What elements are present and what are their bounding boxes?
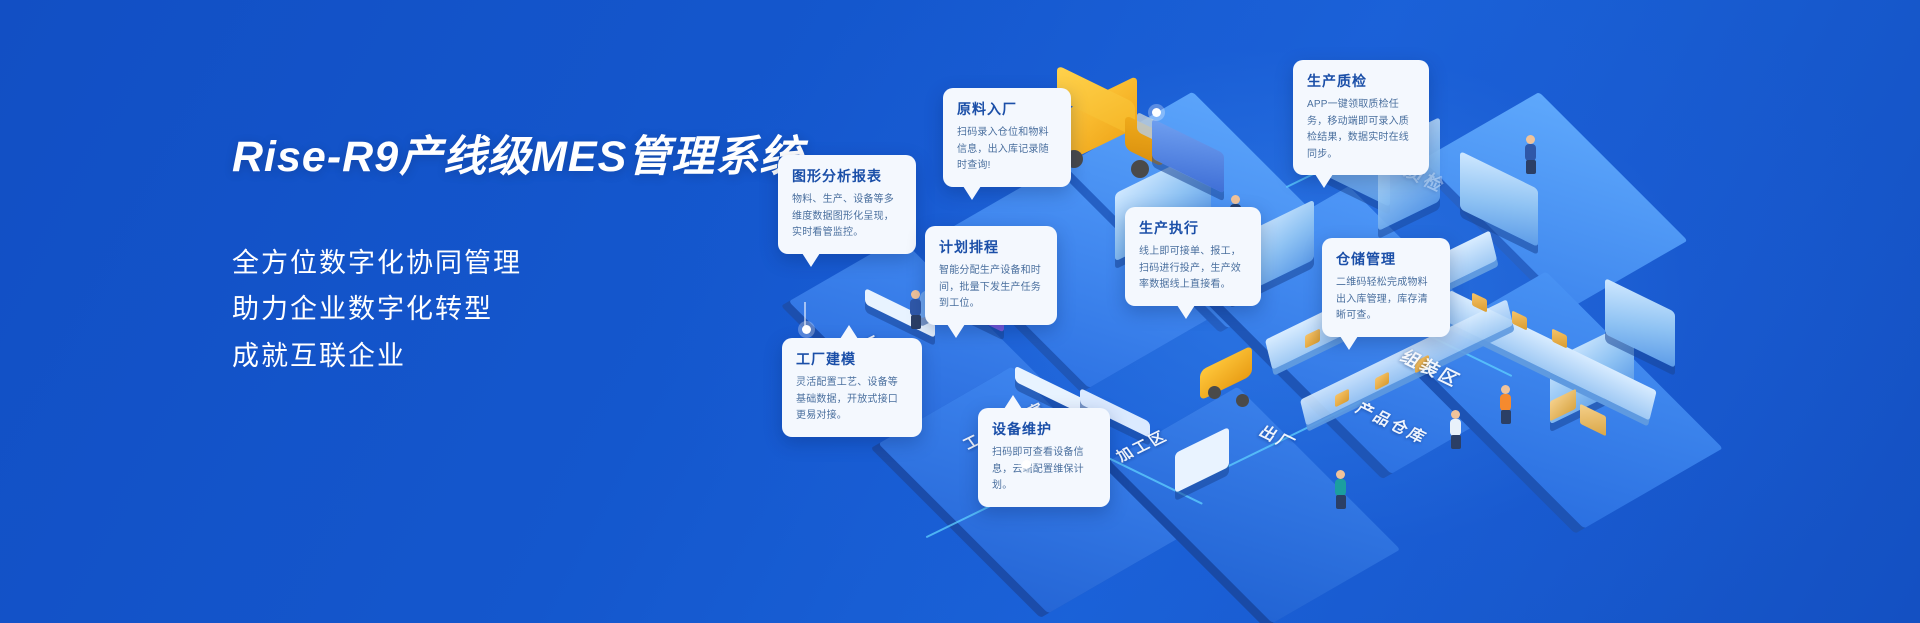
subtitle-line-2: 助力企业数字化转型: [232, 286, 792, 332]
callout-card-equipment-maintenance[interactable]: 设备维护 扫码即可查看设备信息，云端配置维保计划。: [978, 408, 1110, 507]
card-title-warehouse-management: 仓储管理: [1336, 249, 1436, 269]
connector-dot: [1152, 108, 1161, 117]
callout-tail: [1315, 174, 1333, 188]
page-title: Rise-R9产线级MES管理系统: [232, 122, 792, 184]
card-text-equipment-maintenance: 扫码即可查看设备信息，云端配置维保计划。: [992, 445, 1096, 495]
callout-card-factory-modeling[interactable]: 工厂建模 灵活配置工艺、设备等基础数据，开放式接口更易对接。: [782, 338, 922, 437]
mes-hero-banner: Rise-R9产线级MES管理系统 全方位数字化协同管理 助力企业数字化转型 成…: [0, 0, 1920, 623]
card-text-plan-scheduling: 智能分配生产设备和时间，批量下发生产任务到工位。: [939, 263, 1043, 313]
callout-card-production-inspection[interactable]: 生产质检 APP一键领取质检任务，移动端即可录入质检结果，数据实时在线同步。: [1293, 60, 1429, 175]
callout-card-production-execution[interactable]: 生产执行 线上即可接单、报工，扫码进行投产，生产效率数据线上直接看。: [1125, 207, 1261, 306]
card-title-equipment-maintenance: 设备维护: [992, 419, 1096, 439]
card-text-graphic-report: 物料、生产、设备等多维度数据图形化呈现，实时看管监控。: [792, 192, 902, 242]
subtitle-line-3: 成就互联企业: [232, 333, 792, 379]
hero-subtitle: 全方位数字化协同管理 助力企业数字化转型 成就互联企业: [232, 240, 792, 379]
card-title-production-inspection: 生产质检: [1307, 71, 1415, 91]
callout-tail: [1004, 395, 1022, 409]
connector-dot: [802, 325, 811, 334]
callout-card-graphic-report[interactable]: 图形分析报表 物料、生产、设备等多维度数据图形化呈现，实时看管监控。: [778, 155, 916, 254]
callout-tail: [802, 253, 820, 267]
callout-tail: [1340, 336, 1358, 350]
card-title-graphic-report: 图形分析报表: [792, 166, 902, 186]
card-title-factory-modeling: 工厂建模: [796, 349, 908, 369]
callout-card-plan-scheduling[interactable]: 计划排程 智能分配生产设备和时间，批量下发生产任务到工位。: [925, 226, 1057, 325]
card-text-production-inspection: APP一键领取质检任务，移动端即可录入质检结果，数据实时在线同步。: [1307, 97, 1415, 163]
callout-tail: [840, 325, 858, 339]
card-text-warehouse-management: 二维码轻松完成物料出入库管理，库存清晰可查。: [1336, 275, 1436, 325]
callout-tail: [947, 324, 965, 338]
card-title-plan-scheduling: 计划排程: [939, 237, 1043, 257]
callout-tail: [963, 186, 981, 200]
card-title-material-inbound: 原料入厂: [957, 99, 1057, 119]
card-text-production-execution: 线上即可接单、报工，扫码进行投产，生产效率数据线上直接看。: [1139, 244, 1247, 294]
card-text-material-inbound: 扫码录入仓位和物料信息，出入库记录随时查询!: [957, 125, 1057, 175]
callout-card-warehouse-management[interactable]: 仓储管理 二维码轻松完成物料出入库管理，库存清晰可查。: [1322, 238, 1450, 337]
card-title-production-execution: 生产执行: [1139, 218, 1247, 238]
card-text-factory-modeling: 灵活配置工艺、设备等基础数据，开放式接口更易对接。: [796, 375, 908, 425]
callout-tail: [1177, 305, 1195, 319]
callout-card-material-inbound[interactable]: 原料入厂 扫码录入仓位和物料信息，出入库记录随时查询!: [943, 88, 1071, 187]
connector-dot: [1022, 460, 1031, 469]
subtitle-line-1: 全方位数字化协同管理: [232, 240, 792, 286]
hero-copy: Rise-R9产线级MES管理系统 全方位数字化协同管理 助力企业数字化转型 成…: [232, 122, 792, 379]
